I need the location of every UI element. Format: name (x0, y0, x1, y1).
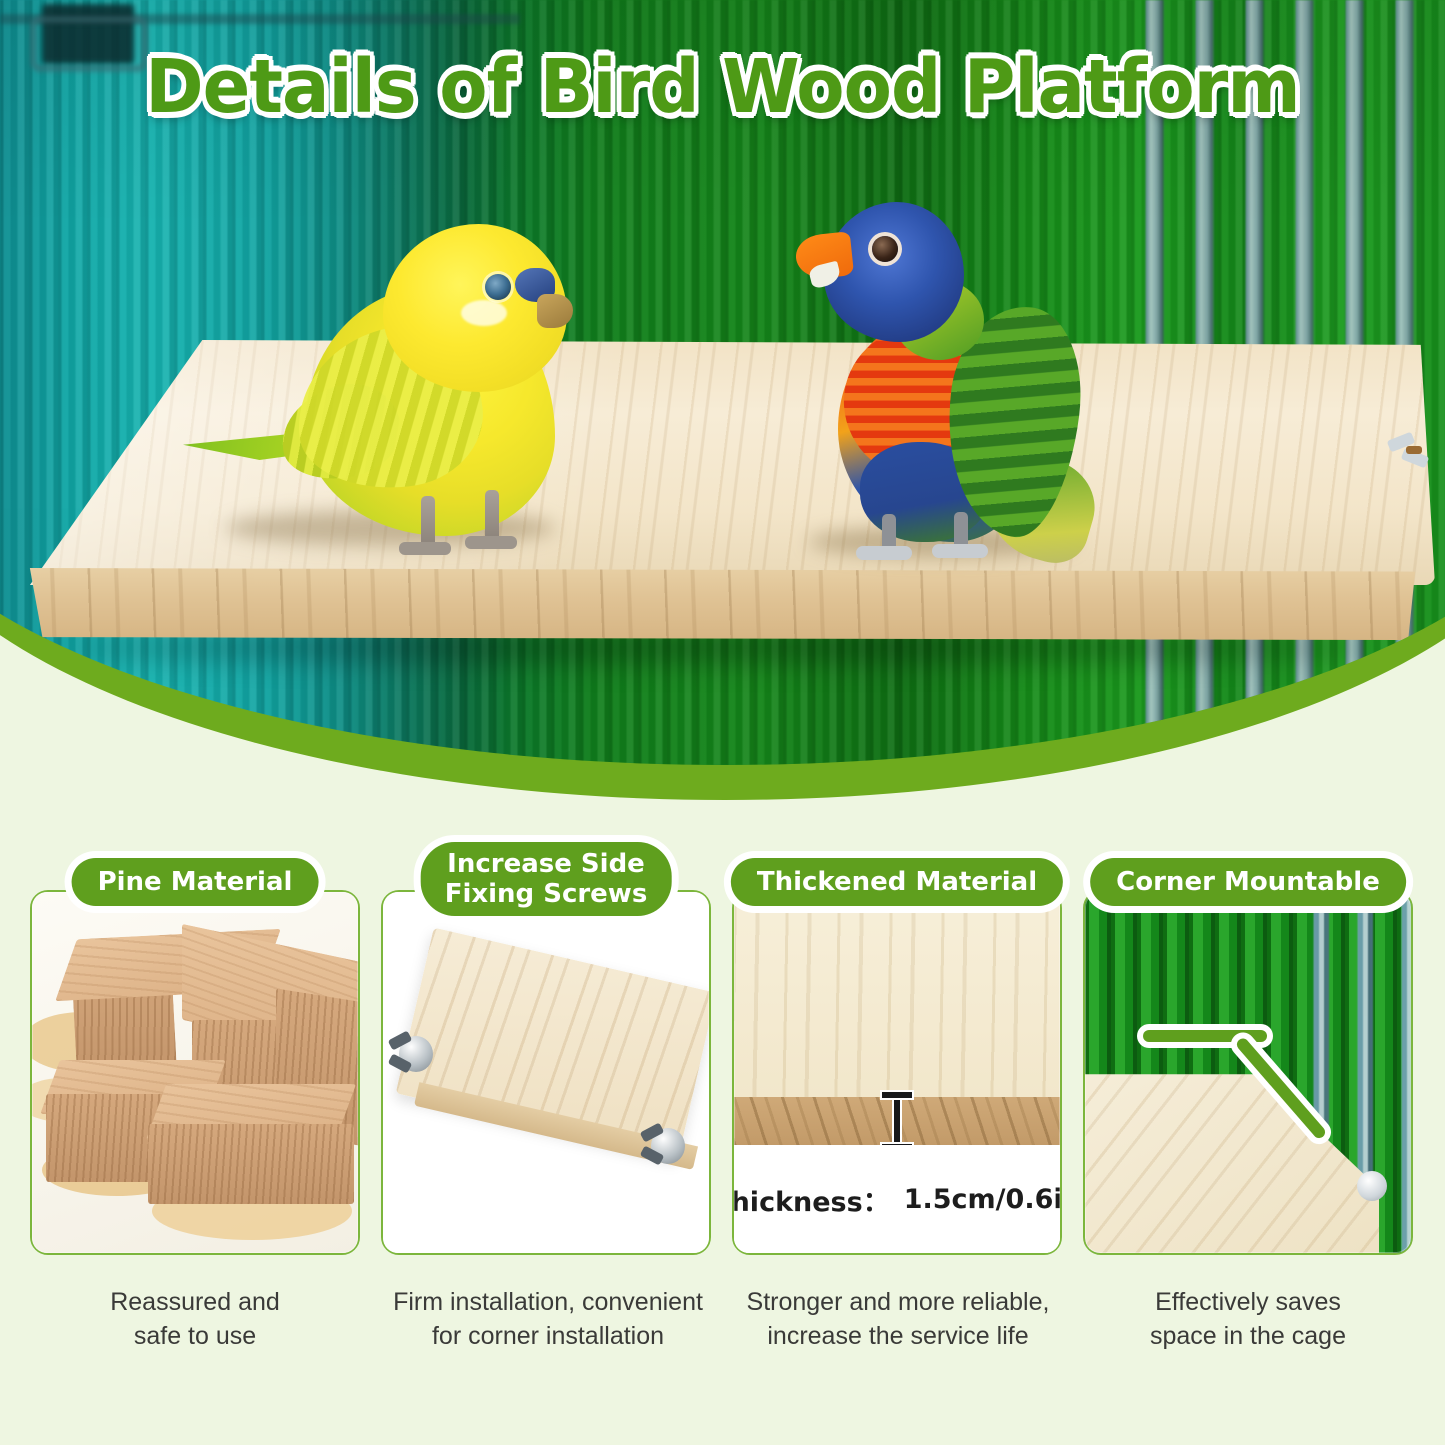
feature-caption-1-line2: safe to use (30, 1320, 360, 1354)
budgerigar-right-foot (465, 536, 517, 549)
feature-badge-3: Thickened Material (731, 858, 1063, 906)
feature-caption-4-line2: space in the cage (1083, 1320, 1413, 1354)
wing-screw-icon-left (389, 1032, 435, 1076)
feature-badge-2-line1: Increase Side (447, 849, 645, 879)
board-top-face (734, 892, 1060, 1097)
feature-caption-3-line1: Stronger and more reliable, (726, 1286, 1070, 1320)
feature-caption-4: Effectively saves space in the cage (1083, 1286, 1413, 1353)
thickness-measure-icon (882, 1092, 912, 1150)
feature-card-side-screws[interactable]: Increase Side Fixing Screws (381, 890, 711, 1255)
budgerigar-beak (537, 294, 573, 328)
feature-caption-2-line1: Firm installation, convenient (373, 1286, 723, 1320)
thickness-value: 1.5cm/0.6in (904, 1184, 1060, 1215)
feature-caption-3: Stronger and more reliable, increase the… (726, 1286, 1070, 1353)
corner-angle-indicator-icon (1143, 1030, 1343, 1148)
feature-badge-2: Increase Side Fixing Screws (421, 842, 672, 916)
feature-badge-1: Pine Material (72, 858, 319, 906)
feature-caption-1-line1: Reassured and (30, 1286, 360, 1320)
feature-caption-3-line2: increase the service life (726, 1320, 1070, 1354)
feature-badge-4: Corner Mountable (1090, 858, 1406, 906)
feature-card-thickened-material[interactable]: Thickness： 1.5cm/0.6in Thickened Materia… (732, 890, 1062, 1255)
rainbow-lorikeet-bird (790, 196, 1090, 564)
thickness-label: Thickness： (734, 1180, 890, 1219)
lorikeet-eye (872, 236, 898, 262)
feature-card-pine-material[interactable]: Pine Material (30, 890, 360, 1255)
feature-caption-4-line1: Effectively saves (1083, 1286, 1413, 1320)
page-title: Details of Bird Wood Platform (36, 44, 1409, 130)
thickness-readout: Thickness： 1.5cm/0.6in (734, 1145, 1060, 1253)
lorikeet-left-foot (856, 546, 912, 560)
platform-front-edge (26, 568, 1420, 640)
feature-caption-2: Firm installation, convenient for corner… (373, 1286, 723, 1353)
corner-mount-image (1085, 892, 1411, 1253)
wing-screw-icon-right (641, 1124, 687, 1168)
lorikeet-right-foot (932, 544, 988, 558)
budgerigar-bird (185, 190, 615, 560)
budgerigar-left-leg (421, 496, 435, 548)
thickness-image: Thickness： 1.5cm/0.6in (734, 892, 1060, 1253)
feature-grid: Pine Material Reassured and safe to use … (0, 868, 1445, 1413)
budgerigar-eye (485, 274, 511, 300)
budgerigar-right-leg (485, 490, 499, 542)
board-with-screws-image (383, 892, 709, 1253)
platform-wing-screw-icon (1388, 430, 1438, 476)
infographic-page: Details of Bird Wood Platform Pine Mater… (0, 0, 1445, 1445)
corner-mount-screw-icon (1357, 1171, 1387, 1201)
feature-caption-2-line2: for corner installation (373, 1320, 723, 1354)
feature-caption-1: Reassured and safe to use (30, 1286, 360, 1353)
hero-section: Details of Bird Wood Platform (0, 0, 1445, 800)
feature-badge-2-line2: Fixing Screws (445, 879, 648, 909)
budgerigar-left-foot (399, 542, 451, 555)
budgerigar-cheek-patch (461, 300, 507, 326)
feature-card-corner-mountable[interactable]: Corner Mountable (1083, 890, 1413, 1255)
pine-blocks-image (32, 892, 358, 1253)
